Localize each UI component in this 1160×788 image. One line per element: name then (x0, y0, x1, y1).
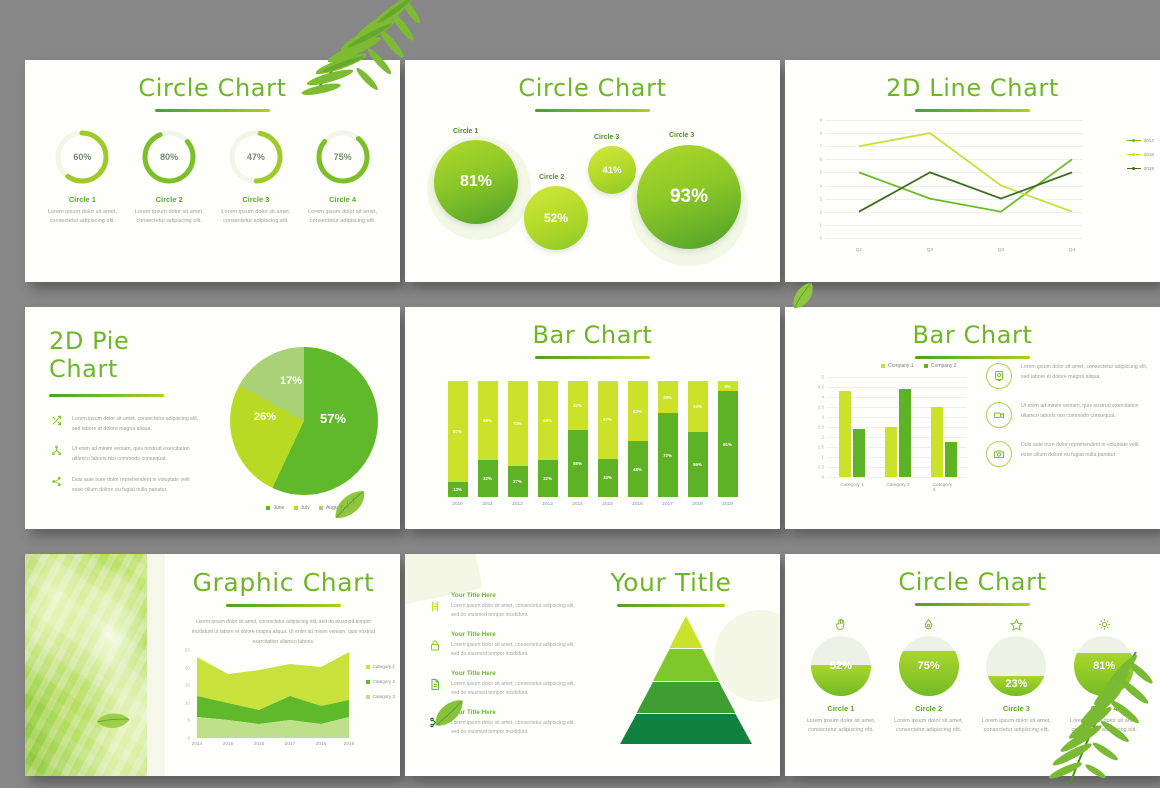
page-title: 2D Pie (49, 327, 199, 355)
bar-segment-upper: 68% (538, 381, 558, 460)
x-tick: 2019 (344, 742, 355, 747)
title-underline (226, 604, 341, 607)
bar-company2[interactable] (899, 389, 911, 477)
donut-label: Circle 1 (41, 195, 123, 204)
feature-heading: Your Title Here (451, 709, 577, 716)
page-title: 2D Line Chart (785, 74, 1160, 102)
legend-label: July (301, 505, 310, 511)
bullet-text: Ut enim ad minim veniam, quis nostrud ex… (1021, 402, 1148, 428)
feature-body: Lorem ipsum dolor sit amet, consectetur … (451, 680, 577, 699)
bullet-text: Duis aute irure dolor reprehenderit in v… (1021, 441, 1148, 467)
y-tick: 0 (819, 235, 822, 240)
donut-value: 75% (314, 128, 372, 186)
x-tick: Q2 (927, 248, 933, 253)
donut-body: Lorem ipsum dolor sit amet, consectetur … (128, 208, 210, 226)
x-tick: 2017 (285, 742, 296, 747)
x-tick: 2018 (316, 742, 327, 747)
donut-value: 47% (227, 128, 285, 186)
donut-item[interactable]: 60% Circle 1 Lorem ipsum dolor sit amet,… (41, 128, 123, 226)
bubble-1[interactable]: 81% (434, 140, 518, 224)
x-tick: 2018 (688, 502, 708, 507)
y-tick: 4.5 (818, 385, 824, 390)
feature-item[interactable]: Your Title Here Lorem ipsum dolor sit am… (427, 631, 577, 660)
bar-column[interactable]: 67% 33% 2015 (598, 381, 618, 507)
fill-circle-item[interactable]: 52% Circle 1 Lorem ipsum dolor sit amet,… (799, 616, 883, 735)
feature-list: Your Title Here Lorem ipsum dolor sit am… (427, 592, 577, 747)
bar-company1[interactable] (931, 407, 943, 477)
x-tick: Q4 (1069, 248, 1075, 253)
x-tick: 2012 (508, 502, 528, 507)
legend-item[interactable]: July (294, 505, 310, 511)
monitor-icon (986, 363, 1012, 389)
feature-body: Lorem ipsum dolor sit amet, consectetur … (451, 719, 577, 738)
y-tick: 10 (185, 700, 190, 705)
y-tick: 2.5 (818, 425, 824, 430)
bar-column[interactable]: 28% 72% 2017 (658, 381, 678, 507)
page-title-line2: Chart (49, 355, 199, 383)
y-tick: 5 (187, 718, 190, 723)
feature-heading: Your Title Here (451, 592, 577, 599)
slide-bar-stacked[interactable]: Bar Chart 87% 13% 2010 68% 32% 2011 73% (405, 307, 780, 529)
sun-icon (1062, 616, 1146, 633)
y-tick: 5 (821, 375, 824, 380)
x-tick: Category 3 (933, 483, 956, 493)
fill-circle-3: 23% (986, 636, 1046, 696)
x-tick: 2017 (658, 502, 678, 507)
feature-item[interactable]: Your Title Here Lorem ipsum dolor sit am… (427, 592, 577, 621)
feature-heading: Your Title Here (451, 670, 577, 677)
title-underline (535, 109, 650, 112)
pyramid-level-1 (670, 616, 703, 648)
bullet-item[interactable]: Lorem ipsum dolor sit amet, consectetur … (986, 363, 1148, 389)
fill-body: Lorem ipsum dolor sit amet, consectetur … (799, 717, 883, 735)
bar-segment-upper: 68% (478, 381, 498, 460)
fill-value: 52% (811, 636, 871, 696)
y-tick: 0 (187, 736, 190, 741)
feature-body: Lorem ipsum dolor sit amet, consectetur … (451, 602, 577, 621)
bar-segment-lower: 91% (718, 391, 738, 497)
title-underline (49, 394, 164, 397)
donut-item[interactable]: 47% Circle 3 Lorem ipsum dolor sit amet,… (215, 128, 297, 226)
page-title: Circle Chart (25, 74, 400, 102)
donut-value: 80% (140, 128, 198, 186)
bar-segment-lower: 13% (448, 482, 468, 497)
legend-label: 2017 (1144, 138, 1154, 143)
x-tick: 2016 (628, 502, 648, 507)
legend-item[interactable]: Category 3 (366, 694, 395, 699)
y-tick: 2 (821, 435, 824, 440)
fill-value: 75% (899, 636, 959, 696)
bar-segment-upper: 28% (658, 381, 678, 413)
pie-legend: June July August (230, 505, 378, 511)
document-icon (427, 670, 443, 699)
x-tick: Q3 (998, 248, 1004, 253)
fill-circle-item[interactable]: 81% Circle 4 Lorem ipsum dolor sit amet,… (1062, 616, 1146, 735)
bar-company2[interactable] (945, 442, 957, 477)
legend-label: 2019 (1144, 166, 1154, 171)
bar-segment-upper: 52% (628, 381, 648, 441)
bubble-2[interactable]: 52% (524, 186, 588, 250)
x-tick: 2013 (538, 502, 558, 507)
title-underline (617, 604, 725, 607)
slide-circle-donut[interactable]: Circle Chart 60% Circle 1 Lorem ipsum do… (25, 60, 400, 282)
donut-label: Circle 4 (302, 195, 384, 204)
lock-icon (427, 631, 443, 660)
fill-circle-item[interactable]: 23% Circle 3 Lorem ipsum dolor sit amet,… (974, 616, 1058, 735)
fill-value: 23% (986, 636, 1046, 696)
donut-body: Lorem ipsum dolor sit amet, consectetur … (215, 208, 297, 226)
y-tick: 5 (819, 170, 822, 175)
x-tick: Category 2 (886, 483, 909, 488)
pie-chart[interactable]: 57% 26% 17% June July August (230, 347, 378, 495)
line-legend: 2017 2018 2019 (1127, 138, 1154, 180)
title-underline (915, 109, 1030, 112)
pyramid-chart[interactable] (620, 616, 752, 744)
camera-icon (986, 441, 1012, 467)
bar-segment-lower: 48% (628, 441, 648, 497)
y-tick: 0.5 (818, 465, 824, 470)
hand-icon (799, 616, 883, 633)
legend-item[interactable]: Company 1 (881, 363, 914, 369)
legend-label: Category 2 (373, 679, 395, 684)
bar-column[interactable]: 87% 13% 2010 (448, 381, 468, 507)
x-tick: 2015 (598, 502, 618, 507)
y-tick: 9 (819, 118, 822, 123)
bullet-text: Duis aute irure dolor reprehenderit in v… (72, 476, 199, 496)
page-title: Circle Chart (405, 74, 780, 102)
fill-circle-row: 52% Circle 1 Lorem ipsum dolor sit amet,… (785, 606, 1160, 735)
feature-heading: Your Title Here (451, 631, 577, 638)
bar-segment-upper: 44% (688, 381, 708, 432)
title-underline (915, 356, 1030, 359)
y-tick: 3 (821, 415, 824, 420)
bar-column[interactable]: 73% 27% 2012 (508, 381, 528, 507)
y-tick: 0 (821, 475, 824, 480)
donut-value: 60% (53, 128, 111, 186)
bubble-value-3: 41% (602, 165, 621, 176)
bubble-label-2: Circle 2 (539, 174, 564, 181)
star-icon (974, 616, 1058, 633)
donut-row: 60% Circle 1 Lorem ipsum dolor sit amet,… (25, 112, 400, 226)
pyramid-level-3 (637, 682, 736, 713)
video-camera-icon (986, 402, 1012, 428)
y-tick: 15 (185, 683, 190, 688)
legend-item[interactable]: Category 1 (366, 664, 395, 669)
fill-body: Lorem ipsum dolor sit amet, consectetur … (1062, 717, 1146, 735)
y-tick: 1.5 (818, 445, 824, 450)
network-icon (49, 445, 64, 465)
y-tick: 2 (819, 209, 822, 214)
bar-segment-upper: 87% (448, 381, 468, 482)
legend-item[interactable]: 2017 (1127, 138, 1154, 143)
bullet-list: Lorem ipsum dolor sit amet, consectetur … (986, 363, 1148, 467)
fill-value: 81% (1074, 636, 1134, 696)
share-icon (49, 476, 64, 496)
y-tick: 4 (819, 183, 822, 188)
legend-label: August (326, 505, 342, 511)
donut-label: Circle 2 (128, 195, 210, 204)
bubble-3[interactable]: 41% (588, 146, 636, 194)
bar-company1[interactable] (839, 391, 851, 477)
bullet-item[interactable]: Ut enim ad minim veniam, quis nostrud ex… (986, 402, 1148, 428)
slide-graphic-chart[interactable]: Graphic Chart Lorem ipsum dolor sit amet… (25, 554, 400, 776)
bar-segment-upper: 67% (598, 381, 618, 459)
x-tick: Category 1 (840, 483, 863, 488)
donut-chart-3: 47% (227, 128, 285, 186)
bar-company1[interactable] (885, 427, 897, 477)
bar-company2[interactable] (853, 429, 865, 477)
bubble-chart: Circle 1 81% Circle 2 52% Circle 3 41% C… (405, 116, 780, 282)
x-tick: 2011 (478, 502, 498, 507)
y-tick: 3 (819, 196, 822, 201)
y-tick: 4 (821, 395, 824, 400)
legend-label: Category 3 (373, 694, 395, 699)
x-tick: 2019 (718, 502, 738, 507)
fill-label: Circle 3 (974, 704, 1058, 713)
page-title: Your Title (576, 568, 766, 597)
stacked-bar-chart: 87% 13% 2010 68% 32% 2011 73% 27% 2012 (405, 359, 780, 507)
fill-circle-4: 81% (1074, 636, 1134, 696)
area-legend: Category 1 Category 2 Category 3 (366, 664, 395, 709)
lettuce-photo (25, 554, 147, 776)
intro-paragraph: Lorem ipsum dolor sit amet, consectetur … (191, 617, 376, 647)
bar-column[interactable]: 52% 48% 2016 (628, 381, 648, 507)
slide-grid: Circle Chart 60% Circle 1 Lorem ipsum do… (0, 0, 1160, 772)
grouped-bar-plot: 5 4.5 4 3.5 3 2.5 2 1.5 1 0.5 0 Category… (827, 377, 967, 477)
fill-body: Lorem ipsum dolor sit amet, consectetur … (887, 717, 971, 735)
y-tick: 20 (185, 665, 190, 670)
bubble-value-2: 52% (544, 211, 568, 225)
bar-column[interactable]: 68% 32% 2013 (538, 381, 558, 507)
legend-label: Company 1 (888, 363, 914, 369)
legend-label: Company 2 (931, 363, 957, 369)
bubble-label-4: Circle 3 (669, 132, 694, 139)
donut-chart-1: 60% (53, 128, 111, 186)
bar-column[interactable]: 9% 91% 2019 (718, 381, 738, 507)
bubble-label-3: Circle 3 (594, 134, 619, 141)
x-tick: 2015 (223, 742, 234, 747)
area-series-svg (193, 650, 353, 738)
y-tick: 8 (819, 131, 822, 136)
donut-body: Lorem ipsum dolor sit amet, consectetur … (41, 208, 123, 226)
feature-item[interactable]: Your Title Here Lorem ipsum dolor sit am… (427, 709, 577, 738)
slide-circle-bubble[interactable]: Circle Chart Circle 1 81% Circle 2 52% C… (405, 60, 780, 282)
fill-circle-1: 52% (811, 636, 871, 696)
legend-label: 2018 (1144, 152, 1154, 157)
bar-segment-lower: 32% (478, 460, 498, 497)
slide-circle-half[interactable]: Circle Chart 52% Circle 1 Lorem ipsum do… (785, 554, 1160, 776)
fill-label: Circle 1 (799, 704, 883, 713)
slide-pie-chart[interactable]: 2D Pie Chart Lorem ipsum dolor sit amet,… (25, 307, 400, 529)
bar-segment-lower: 56% (688, 432, 708, 497)
slide-pyramid[interactable]: Your Title Your Title Here Lorem ipsum d… (405, 554, 780, 776)
page-title: Bar Chart (405, 321, 780, 349)
shuffle-icon (49, 415, 64, 435)
fill-label: Circle 2 (887, 704, 971, 713)
bullet-item[interactable]: Lorem ipsum dolor sit amet, consectetur … (49, 415, 199, 435)
bullet-text: Lorem ipsum dolor sit amet, consectetur … (72, 415, 199, 435)
bar-column[interactable]: 44% 56% 2018 (688, 381, 708, 507)
legend-item[interactable]: Company 2 (924, 363, 957, 369)
line-plot: 9 8 7 6 5 4 3 2 1 0 Q1 Q2 Q3 Q4 (825, 120, 1083, 238)
page-title: Circle Chart (785, 568, 1160, 596)
pyramid-level-2 (653, 649, 719, 681)
page-title: Graphic Chart (173, 568, 394, 597)
fill-body: Lorem ipsum dolor sit amet, consectetur … (974, 717, 1058, 735)
bar-segment-lower: 33% (598, 459, 618, 497)
ladder-icon (427, 592, 443, 621)
pie-slice-label: 17% (280, 375, 302, 387)
bubble-4[interactable]: 93% (637, 145, 741, 249)
bar-column[interactable]: 68% 32% 2011 (478, 381, 498, 507)
area-plot: 25 20 15 10 5 0 2014 2015 2016 2017 2018… (193, 650, 353, 738)
bar-segment-lower: 32% (538, 460, 558, 497)
x-tick: 2014 (192, 742, 203, 747)
pie-slice-label: 26% (254, 411, 276, 423)
y-tick: 1 (819, 222, 822, 227)
legend-item[interactable]: August (319, 505, 342, 511)
bullet-item[interactable]: Ut enim ad minim veniam, quis nostrud ex… (49, 445, 199, 465)
donut-body: Lorem ipsum dolor sit amet, consectetur … (302, 208, 384, 226)
fill-label: Circle 4 (1062, 704, 1146, 713)
donut-item[interactable]: 75% Circle 4 Lorem ipsum dolor sit amet,… (302, 128, 384, 226)
donut-chart-4: 75% (314, 128, 372, 186)
pyramid-level-4 (620, 714, 752, 744)
bar-legend: Company 1 Company 2 (881, 363, 966, 369)
fill-circle-item[interactable]: 75% Circle 2 Lorem ipsum dolor sit amet,… (887, 616, 971, 735)
bubble-label-1: Circle 1 (453, 128, 478, 135)
page-title: Bar Chart (785, 321, 1160, 349)
bubble-value-1: 81% (460, 173, 492, 191)
pie-slice-label: 57% (320, 411, 346, 426)
pie-circle (230, 347, 378, 495)
legend-item[interactable]: 2018 (1127, 152, 1154, 157)
photo-divider (147, 554, 165, 776)
legend-item[interactable]: Category 2 (366, 679, 395, 684)
line-series-svg (825, 120, 1083, 238)
slide-line-chart[interactable]: 2D Line Chart 9 8 7 6 5 4 3 2 1 0 Q1 Q2 … (785, 60, 1160, 282)
donut-label: Circle 3 (215, 195, 297, 204)
bullet-list: Lorem ipsum dolor sit amet, consectetur … (49, 415, 199, 496)
y-tick: 7 (819, 144, 822, 149)
bubble-value-4: 93% (670, 186, 708, 208)
fill-circle-2: 75% (899, 636, 959, 696)
bar-segment-upper: 42% (568, 381, 588, 430)
droplet-icon (887, 616, 971, 633)
x-tick: 2014 (568, 502, 588, 507)
bar-column[interactable]: 42% 58% 2014 (568, 381, 588, 507)
bar-segment-lower: 58% (568, 430, 588, 497)
y-tick: 25 (185, 648, 190, 653)
bar-segment-upper: 9% (718, 381, 738, 391)
feature-body: Lorem ipsum dolor sit amet, consectetur … (451, 641, 577, 660)
bullet-item[interactable]: Duis aute irure dolor reprehenderit in v… (986, 441, 1148, 467)
legend-item[interactable]: 2019 (1127, 166, 1154, 171)
feature-item[interactable]: Your Title Here Lorem ipsum dolor sit am… (427, 670, 577, 699)
legend-label: June (273, 505, 284, 511)
x-tick: 2010 (448, 502, 468, 507)
legend-label: Category 1 (373, 664, 395, 669)
y-tick: 3.5 (818, 405, 824, 410)
slide-bar-grouped[interactable]: Bar Chart Company 1 Company 2 5 4.5 4 3.… (785, 307, 1160, 529)
bullet-text: Ut enim ad minim veniam, quis nostrud ex… (72, 445, 199, 465)
donut-item[interactable]: 80% Circle 2 Lorem ipsum dolor sit amet,… (128, 128, 210, 226)
bar-segment-lower: 72% (658, 413, 678, 497)
donut-chart-2: 80% (140, 128, 198, 186)
scissors-icon (427, 709, 443, 738)
y-tick: 6 (819, 157, 822, 162)
bar-segment-upper: 73% (508, 381, 528, 466)
y-tick: 1 (821, 455, 824, 460)
legend-item[interactable]: June (266, 505, 284, 511)
bar-segment-lower: 27% (508, 466, 528, 497)
bullet-text: Lorem ipsum dolor sit amet, consectetur … (1021, 363, 1148, 389)
bullet-item[interactable]: Duis aute irure dolor reprehenderit in v… (49, 476, 199, 496)
x-tick: Q1 (856, 248, 862, 253)
x-tick: 2016 (254, 742, 265, 747)
